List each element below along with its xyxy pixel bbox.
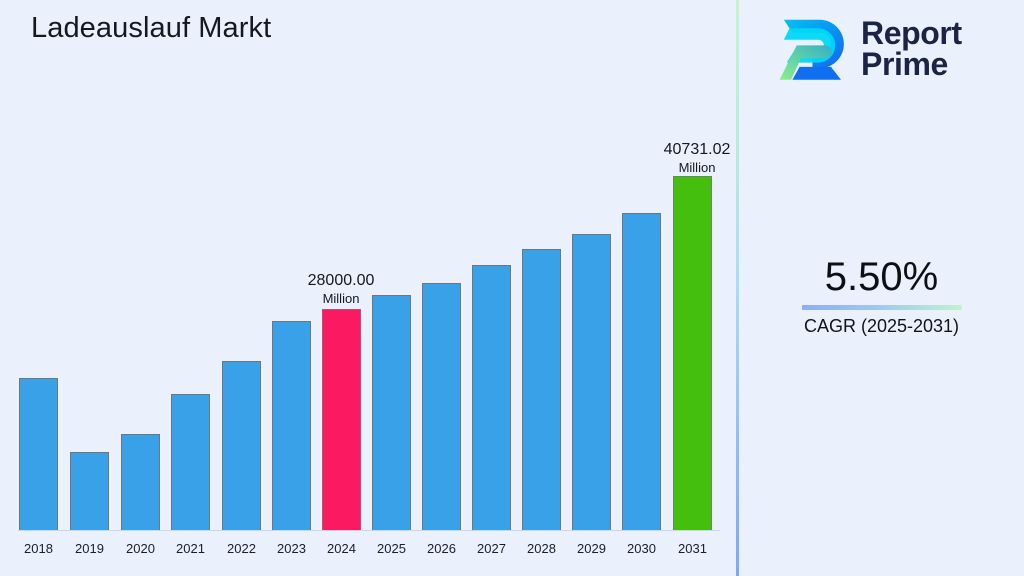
report-prime-r-mark-icon <box>775 14 847 84</box>
bar-2031 <box>673 176 712 530</box>
cagr-value: 5.50% <box>739 253 1024 301</box>
chart-baseline <box>18 530 720 531</box>
bar-2022 <box>222 361 261 530</box>
bar-2021 <box>171 394 210 530</box>
bar-2025 <box>372 295 411 530</box>
bar-2028 <box>522 249 561 530</box>
brand-logo: Report Prime <box>775 14 962 84</box>
side-panel: Report Prime 5.50% CAGR (2025-2031) <box>739 0 1024 576</box>
bar-2030 <box>622 213 661 530</box>
bar-2018 <box>19 378 58 530</box>
bar-2020 <box>121 434 160 530</box>
bar-2024 <box>322 309 361 530</box>
brand-name-line2: Prime <box>861 49 962 80</box>
bar-2023 <box>272 321 311 530</box>
bar-2026 <box>422 283 461 530</box>
brand-wordmark: Report Prime <box>861 18 962 80</box>
cagr-divider-rule <box>802 305 962 310</box>
bar-chart: 2018201920202021202220232024202520262027… <box>0 0 736 576</box>
bar-2019 <box>70 452 109 530</box>
cagr-block: 5.50% CAGR (2025-2031) <box>739 253 1024 337</box>
cagr-caption: CAGR (2025-2031) <box>739 315 1024 337</box>
callout-value: 28000.00 <box>261 271 421 291</box>
x-axis-label-2031: 2031 <box>663 541 723 556</box>
bar-2027 <box>472 265 511 530</box>
chart-infographic: Ladeauslauf Markt 2018201920202021202220… <box>0 0 1024 576</box>
bar-2029 <box>572 234 611 530</box>
